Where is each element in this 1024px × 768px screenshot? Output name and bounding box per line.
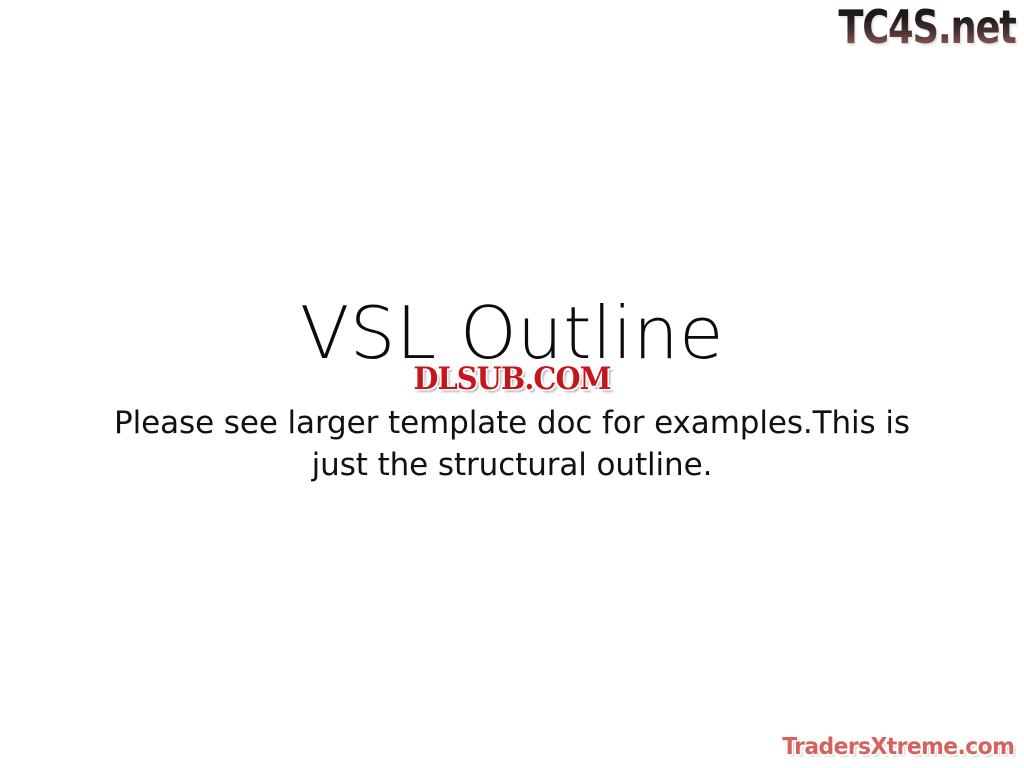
watermark-tc4s-net: TC4S.net [839,2,1016,52]
slide-subtitle-text: Please see larger template doc for examp… [92,402,932,486]
page-title: VSL Outline [62,296,962,370]
presentation-slide: VSL Outline Please see larger template d… [0,0,1024,768]
watermark-tradersxtreme-com: TradersXtreme.com [782,734,1014,760]
watermark-dlsub-com: DLSUB.COM [36,363,988,395]
